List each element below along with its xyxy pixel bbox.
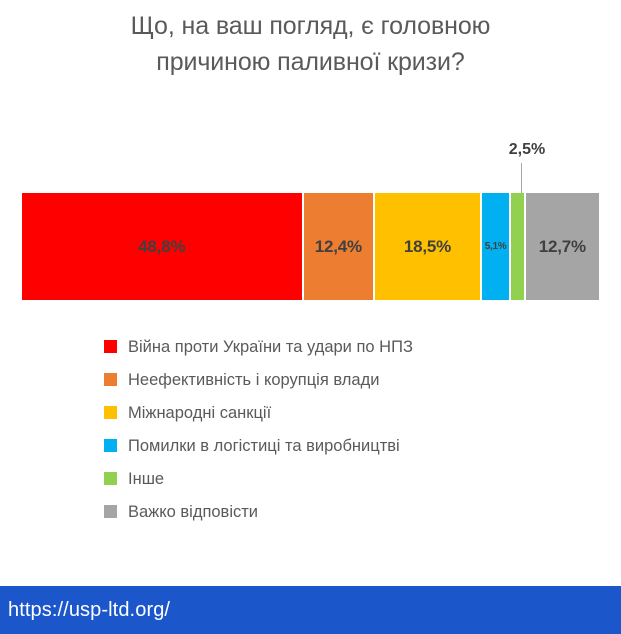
bar-segment-value: 48,8% bbox=[138, 237, 185, 257]
legend-swatch-icon bbox=[104, 505, 117, 518]
legend-item-sanktsii[interactable]: Міжнародні санкції bbox=[104, 396, 524, 429]
bar-segment-value: 5,1% bbox=[485, 241, 507, 252]
bar-segment-sanktsii[interactable]: 18,5% bbox=[375, 193, 482, 300]
legend-item-inshe[interactable]: Інше bbox=[104, 462, 524, 495]
bar-segment-inshe[interactable]: 2,5% bbox=[511, 193, 525, 300]
footer-url-link[interactable]: https://usp-ltd.org/ bbox=[8, 599, 170, 622]
legend-swatch-icon bbox=[104, 373, 117, 386]
bar-segment-value: 12,4% bbox=[315, 237, 362, 257]
callout-label-inshe: 2,5% bbox=[477, 140, 577, 160]
legend-swatch-icon bbox=[104, 340, 117, 353]
bar-segment-neefektyvnist[interactable]: 12,4% bbox=[304, 193, 376, 300]
legend-swatch-icon bbox=[104, 472, 117, 485]
page-title: Що, на ваш погляд, є головною причиною п… bbox=[50, 8, 571, 80]
legend-swatch-icon bbox=[104, 406, 117, 419]
bar-segment-value: 12,7% bbox=[539, 237, 586, 257]
footer-bar: https://usp-ltd.org/ bbox=[0, 586, 621, 634]
bar-segment-viyna[interactable]: 48,8% bbox=[22, 193, 304, 300]
chart-legend: Війна проти України та удари по НПЗ Нееф… bbox=[104, 330, 524, 528]
page-title-line-2: причиною паливної кризи? bbox=[50, 44, 571, 80]
legend-item-viyna[interactable]: Війна проти України та удари по НПЗ bbox=[104, 330, 524, 363]
legend-item-label: Міжнародні санкції bbox=[128, 403, 271, 423]
legend-item-vazhko[interactable]: Важко відповісти bbox=[104, 495, 524, 528]
legend-item-label: Помилки в логістиці та виробництві bbox=[128, 436, 400, 456]
legend-item-pomylky[interactable]: Помилки в логістиці та виробництві bbox=[104, 429, 524, 462]
page-title-line-1: Що, на ваш погляд, є головною bbox=[50, 8, 571, 44]
legend-item-label: Війна проти України та удари по НПЗ bbox=[128, 337, 413, 357]
bar-segment-pomylky[interactable]: 5,1% bbox=[482, 193, 511, 300]
bar-segment-vazhko[interactable]: 12,7% bbox=[526, 193, 599, 300]
legend-swatch-icon bbox=[104, 439, 117, 452]
legend-item-label: Важко відповісти bbox=[128, 502, 258, 522]
bar-segment-value: 18,5% bbox=[404, 237, 451, 257]
legend-item-label: Інше bbox=[128, 469, 164, 489]
stacked-bar-chart: 48,8% 12,4% 18,5% 5,1% 2,5% 12,7% bbox=[22, 193, 599, 300]
callout-leader-line bbox=[521, 163, 522, 195]
legend-item-neefektyvnist[interactable]: Неефективність і корупція влади bbox=[104, 363, 524, 396]
legend-item-label: Неефективність і корупція влади bbox=[128, 370, 379, 390]
